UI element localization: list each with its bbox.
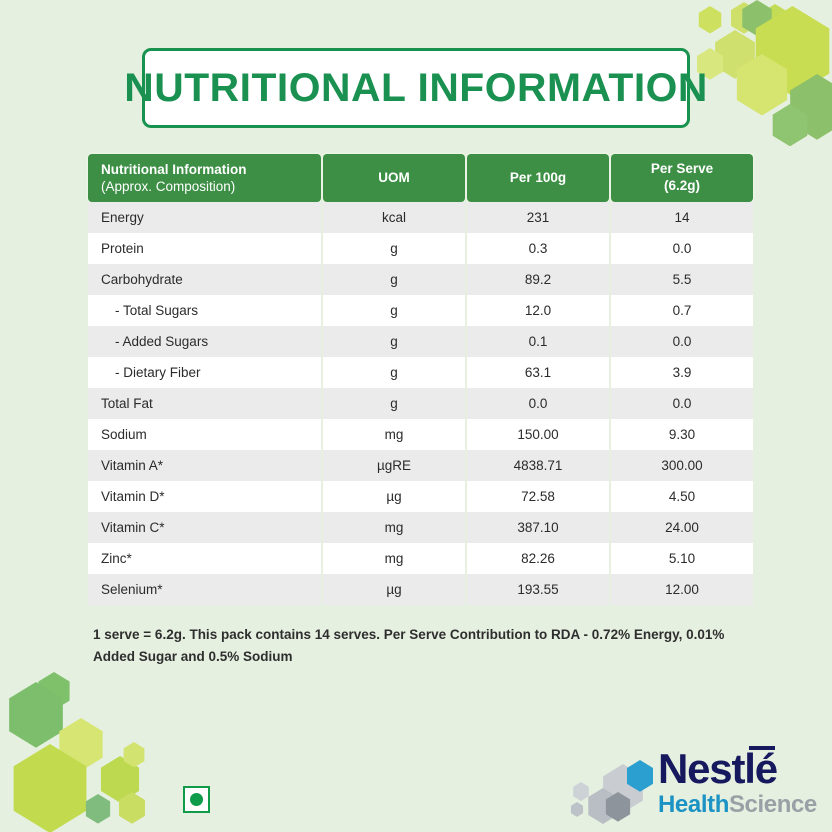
row-per-serve: 0.0	[611, 326, 753, 357]
table-row: Zinc*mg82.265.10	[88, 543, 753, 574]
table-row: Carbohydrateg89.25.5	[88, 264, 753, 295]
header-uom: UOM	[323, 154, 465, 202]
row-uom: g	[323, 357, 465, 388]
nutrition-table: Nutritional Information (Approx. Composi…	[86, 154, 755, 605]
row-uom: mg	[323, 512, 465, 543]
row-per-serve: 0.0	[611, 388, 753, 419]
row-per-serve: 5.10	[611, 543, 753, 574]
row-uom: µg	[323, 574, 465, 605]
logo-brand-nestle: Nestlé	[658, 748, 777, 790]
table-row: - Added Sugarsg0.10.0	[88, 326, 753, 357]
hexagon-decor-bottom-left	[122, 742, 146, 767]
row-nutrient-name: - Added Sugars	[88, 326, 321, 357]
header-nutritional-information: Nutritional Information (Approx. Composi…	[88, 154, 321, 202]
hexagon-decor-top-right	[729, 2, 759, 34]
hexagon-decor-bottom-left	[56, 718, 106, 771]
row-per-100g: 0.3	[467, 233, 609, 264]
table-row: Vitamin A*µgRE4838.71300.00	[88, 450, 753, 481]
page-title-banner: NUTRITIONAL INFORMATION	[142, 48, 690, 128]
hexagon-decor-top-right	[750, 6, 832, 96]
row-nutrient-name: Vitamin D*	[88, 481, 321, 512]
row-uom: g	[323, 233, 465, 264]
row-nutrient-name: Sodium	[88, 419, 321, 450]
row-uom: g	[323, 264, 465, 295]
table-body: Energykcal23114Proteing0.30.0Carbohydrat…	[88, 202, 753, 605]
row-per-100g: 82.26	[467, 543, 609, 574]
logo-hexagon	[570, 802, 584, 817]
row-uom: µgRE	[323, 450, 465, 481]
row-per-100g: 0.0	[467, 388, 609, 419]
table-row: Energykcal23114	[88, 202, 753, 233]
table-header: Nutritional Information (Approx. Composi…	[88, 154, 753, 202]
nutrition-table-wrapper: Nutritional Information (Approx. Composi…	[86, 154, 747, 605]
row-per-100g: 63.1	[467, 357, 609, 388]
row-uom: g	[323, 295, 465, 326]
hexagon-decor-top-right	[733, 54, 791, 115]
row-nutrient-name: Vitamin C*	[88, 512, 321, 543]
row-nutrient-name: - Dietary Fiber	[88, 357, 321, 388]
logo-subbrand: HealthScience	[658, 793, 828, 817]
header-per-serve-line1: Per Serve	[621, 161, 743, 178]
row-nutrient-name: Zinc*	[88, 543, 321, 574]
footnote-text: 1 serve = 6.2g. This pack contains 14 se…	[93, 624, 753, 668]
row-per-100g: 193.55	[467, 574, 609, 605]
table-row: Selenium*µg193.5512.00	[88, 574, 753, 605]
table-row: Sodiummg150.009.30	[88, 419, 753, 450]
hexagon-decor-top-right	[697, 6, 723, 34]
row-nutrient-name: - Total Sugars	[88, 295, 321, 326]
header-row: Nutritional Information (Approx. Composi…	[88, 154, 753, 202]
hexagon-decor-top-right	[712, 30, 758, 79]
row-per-serve: 5.5	[611, 264, 753, 295]
hexagon-decor-top-right	[770, 104, 810, 146]
row-per-100g: 0.1	[467, 326, 609, 357]
row-nutrient-name: Protein	[88, 233, 321, 264]
row-nutrient-name: Total Fat	[88, 388, 321, 419]
row-uom: kcal	[323, 202, 465, 233]
hexagon-decor-bottom-left	[5, 682, 67, 748]
row-per-100g: 72.58	[467, 481, 609, 512]
row-per-serve: 0.7	[611, 295, 753, 326]
hexagon-decor-top-right	[757, 4, 793, 42]
header-per-100g: Per 100g	[467, 154, 609, 202]
logo-brand-text: Nestlé	[658, 745, 777, 792]
row-per-100g: 89.2	[467, 264, 609, 295]
row-per-serve: 4.50	[611, 481, 753, 512]
table-row: Total Fatg0.00.0	[88, 388, 753, 419]
row-nutrient-name: Vitamin A*	[88, 450, 321, 481]
row-per-serve: 3.9	[611, 357, 753, 388]
row-nutrient-name: Carbohydrate	[88, 264, 321, 295]
header-label-line1: Nutritional Information	[101, 161, 311, 178]
logo-science-text: Science	[729, 791, 817, 818]
hexagon-decor-bottom-left	[84, 794, 112, 824]
vegetarian-dot	[190, 793, 203, 806]
header-per-serve-line2: (6.2g)	[621, 178, 743, 195]
hexagon-decor-bottom-left	[8, 744, 92, 832]
table-row: Vitamin D*µg72.584.50	[88, 481, 753, 512]
row-uom: mg	[323, 419, 465, 450]
logo-brand-bar	[749, 746, 775, 750]
row-per-100g: 4838.71	[467, 450, 609, 481]
hexagon-decor-bottom-left	[117, 792, 147, 824]
header-per-serve: Per Serve (6.2g)	[611, 154, 753, 202]
row-nutrient-name: Selenium*	[88, 574, 321, 605]
row-uom: mg	[323, 543, 465, 574]
table-row: Proteing0.30.0	[88, 233, 753, 264]
row-per-serve: 300.00	[611, 450, 753, 481]
table-row: Vitamin C*mg387.1024.00	[88, 512, 753, 543]
hexagon-decor-bottom-left	[98, 756, 142, 803]
row-uom: g	[323, 326, 465, 357]
row-per-serve: 14	[611, 202, 753, 233]
nestle-health-science-logo: Nestlé HealthScience	[570, 748, 825, 828]
logo-health-text: Health	[658, 791, 729, 818]
logo-hexagon	[572, 782, 590, 801]
row-uom: µg	[323, 481, 465, 512]
page-title: NUTRITIONAL INFORMATION	[124, 66, 708, 111]
hexagon-decor-top-right	[786, 74, 832, 140]
row-per-serve: 9.30	[611, 419, 753, 450]
row-per-serve: 0.0	[611, 233, 753, 264]
row-nutrient-name: Energy	[88, 202, 321, 233]
row-per-100g: 12.0	[467, 295, 609, 326]
vegetarian-mark-icon	[183, 786, 210, 813]
row-per-serve: 12.00	[611, 574, 753, 605]
row-per-100g: 387.10	[467, 512, 609, 543]
hexagon-decor-top-right	[740, 0, 774, 36]
row-per-100g: 150.00	[467, 419, 609, 450]
page-root: NUTRITIONAL INFORMATION Nutritional Info…	[0, 0, 832, 832]
row-uom: g	[323, 388, 465, 419]
row-per-100g: 231	[467, 202, 609, 233]
row-per-serve: 24.00	[611, 512, 753, 543]
table-row: - Dietary Fiberg63.13.9	[88, 357, 753, 388]
table-row: - Total Sugarsg12.00.7	[88, 295, 753, 326]
header-label-line2: (Approx. Composition)	[101, 178, 311, 195]
logo-wordmark: Nestlé HealthScience	[658, 748, 828, 817]
hexagon-decor-bottom-left	[36, 672, 72, 710]
